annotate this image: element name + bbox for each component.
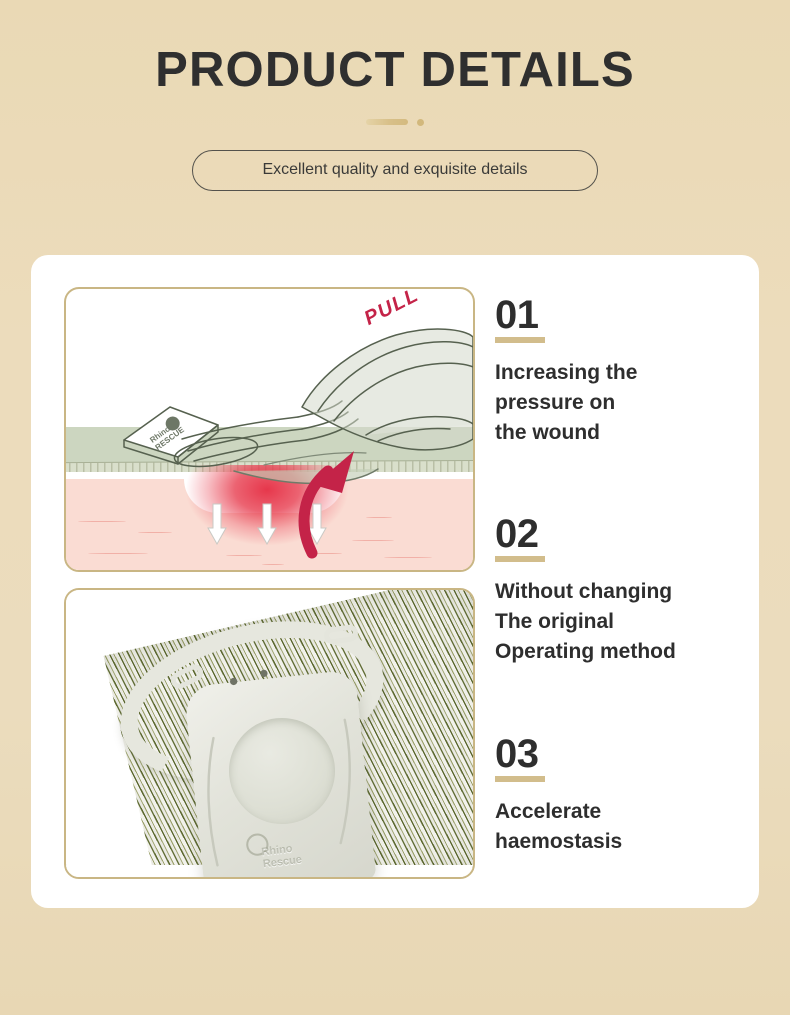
feature-item-02: 02 Without changing The original Operati…: [495, 514, 760, 666]
figure-wound-cross-section: Rhino RESCUE PULL: [64, 287, 475, 572]
feature-number: 01: [495, 295, 545, 343]
subtitle-badge: Excellent quality and exquisite details: [192, 150, 598, 191]
feature-item-01: 01 Increasing the pressure on the wound: [495, 295, 760, 447]
content-card: Rhino RESCUE PULL: [31, 255, 759, 908]
clip-rivet-left: [230, 678, 237, 685]
page-title: PRODUCT DETAILS: [0, 46, 790, 95]
decorative-divider: [0, 116, 790, 128]
figure-product-photo: Rhino Rescue: [64, 588, 475, 879]
page-header: PRODUCT DETAILS Excellent quality and ex…: [0, 0, 790, 250]
feature-number: 03: [495, 734, 545, 782]
pull-arrow-icon: [304, 451, 354, 553]
product-details-page: PRODUCT DETAILS Excellent quality and ex…: [0, 0, 790, 1015]
feature-text: Accelerate haemostasis: [495, 797, 760, 857]
device-lineart: Rhino RESCUE: [66, 289, 473, 570]
divider-bar-icon: [366, 119, 408, 125]
clip-rivet-right: [260, 670, 267, 677]
feature-item-03: 03 Accelerate haemostasis: [495, 734, 760, 857]
feature-number: 02: [495, 514, 545, 562]
divider-dot-icon: [417, 119, 424, 126]
feature-text: Increasing the pressure on the wound: [495, 358, 760, 447]
feature-text: Without changing The original Operating …: [495, 577, 760, 666]
clip-detail-lines: [66, 590, 473, 877]
